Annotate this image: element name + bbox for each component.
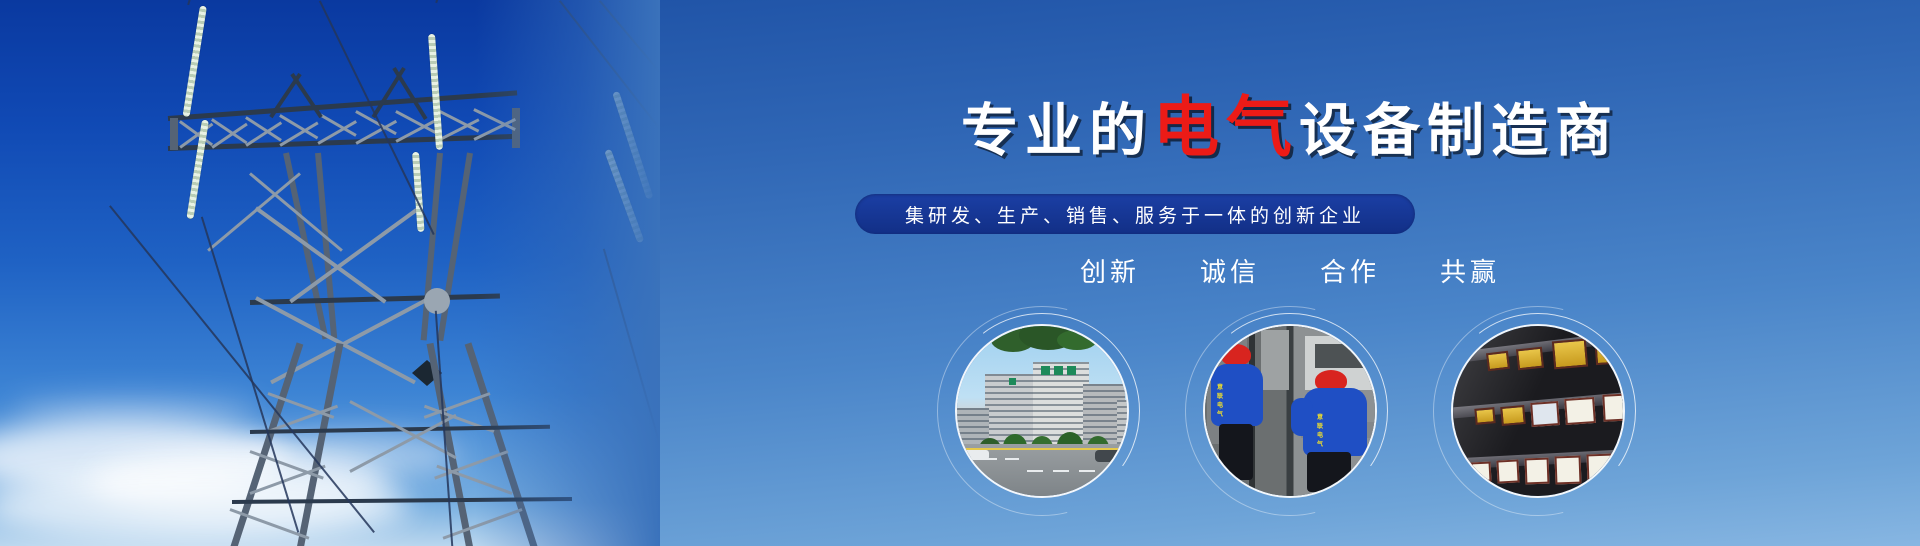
thumbnail-workers[interactable]: 意联电气 意联电气 (1197, 318, 1383, 504)
cloud (250, 432, 460, 478)
cloud (90, 448, 390, 518)
transmission-tower-photo (0, 0, 660, 546)
keyword-item: 共赢 (1440, 252, 1500, 289)
banner-content: 专业的电气设备制造商 集研发、生产、销售、服务于一体的创新企业 创新 诚信 合作… (660, 0, 1920, 546)
pylon-structure (0, 0, 660, 546)
insulator-string (604, 149, 644, 243)
headline-before: 专业的 (961, 99, 1153, 163)
insulator-string (428, 34, 443, 150)
thumbnail-image-workers: 意联电气 意联电气 (1203, 324, 1377, 498)
subtitle-pill: 集研发、生产、销售、服务于一体的创新企业 (855, 194, 1415, 234)
insulator-string (612, 91, 653, 200)
keyword-item: 诚信 (1200, 252, 1260, 289)
keyword-list: 创新 诚信 合作 共赢 (660, 252, 1920, 289)
thumbnail-image-certificates (1451, 324, 1625, 498)
cloud (0, 470, 410, 542)
headline-highlight: 电气 (1153, 90, 1299, 164)
insulator-string (183, 5, 207, 117)
insulator-string (412, 152, 425, 232)
cloud (10, 394, 260, 424)
banner-headline: 专业的电气设备制造商 (660, 74, 1920, 170)
thumbnail-certificates[interactable] (1445, 318, 1631, 504)
subtitle-text: 集研发、生产、销售、服务于一体的创新企业 (905, 201, 1365, 228)
headline-after: 设备制造商 (1299, 99, 1619, 163)
insulator-string (186, 119, 209, 219)
keyword-item: 创新 (1080, 252, 1140, 289)
promotional-banner: 专业的电气设备制造商 集研发、生产、销售、服务于一体的创新企业 创新 诚信 合作… (0, 0, 1920, 546)
keyword-item: 合作 (1320, 252, 1380, 289)
thumbnail-office-building[interactable] (949, 318, 1135, 504)
cloud (0, 418, 290, 498)
thumbnail-row: 意联电气 意联电气 (660, 318, 1920, 504)
thumbnail-image-office (955, 324, 1129, 498)
